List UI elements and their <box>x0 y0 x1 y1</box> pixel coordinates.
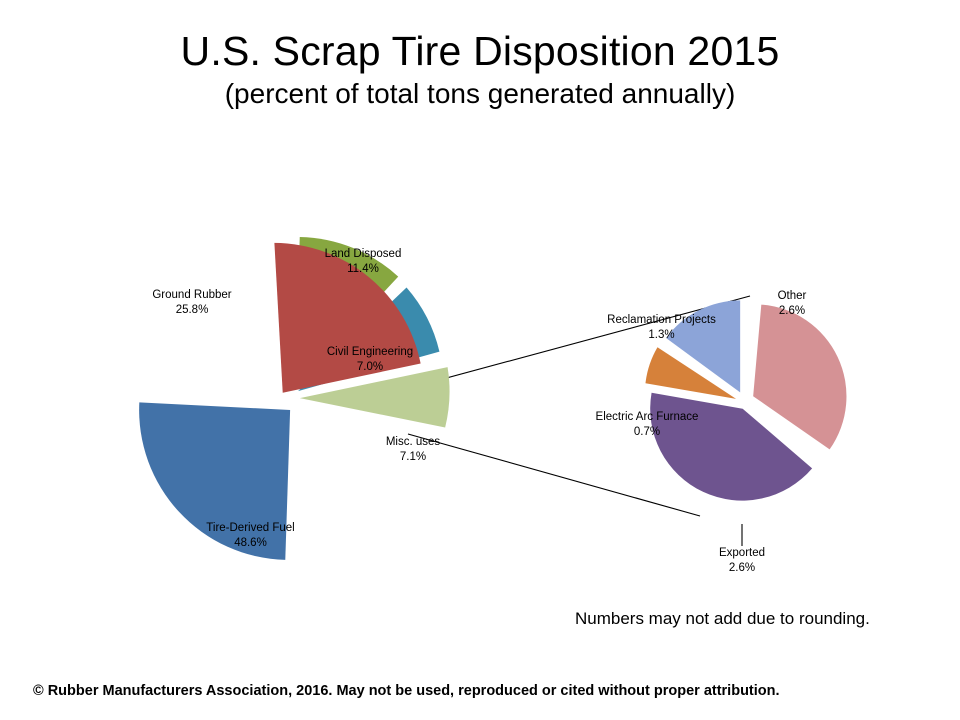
rounding-note: Numbers may not add due to rounding. <box>575 608 870 630</box>
pie-slice-ground-rubber[interactable] <box>274 243 420 393</box>
pie-slice-tire-derived-fuel[interactable] <box>139 402 290 559</box>
slide-canvas: U.S. Scrap Tire Disposition 2015 (percen… <box>0 0 960 720</box>
copyright-attribution: © Rubber Manufacturers Association, 2016… <box>33 681 780 701</box>
primary-pie <box>139 237 449 560</box>
pie-slice-other[interactable] <box>753 305 846 450</box>
secondary-pie <box>645 300 846 500</box>
connector-line-bottom <box>408 434 700 516</box>
